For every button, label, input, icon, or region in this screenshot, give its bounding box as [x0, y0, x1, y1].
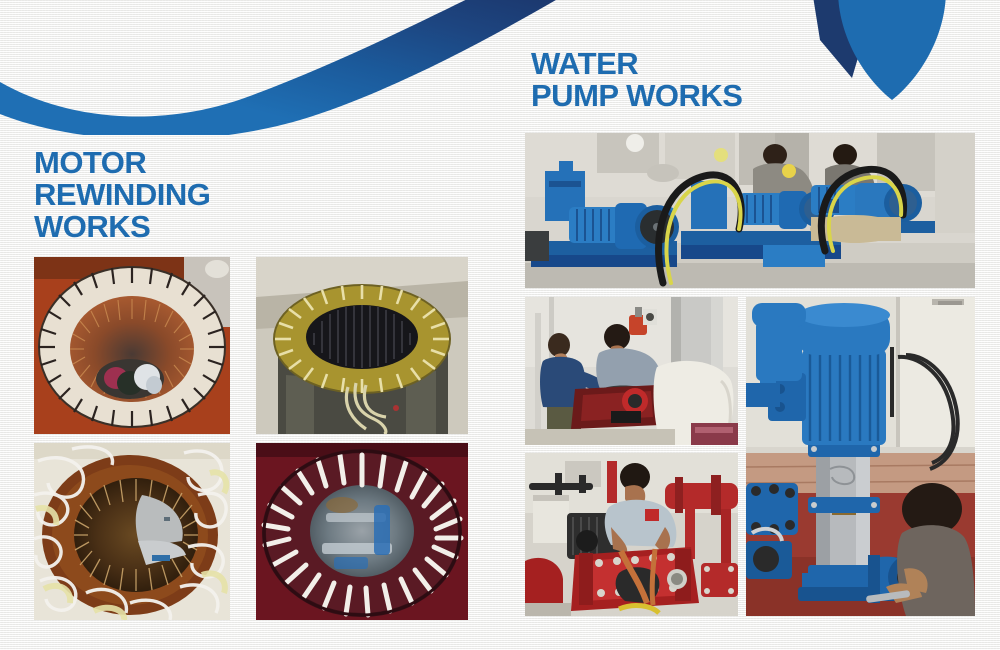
water-pump-title: WATER PUMP WORKS — [531, 48, 951, 112]
photo-vertical-pump — [746, 297, 975, 616]
motor-title-line-2: REWINDING — [34, 179, 334, 211]
photo-stator-gold — [256, 257, 468, 434]
pump-title-line-1: WATER — [531, 48, 951, 80]
page-canvas: MOTOR REWINDING WORKS — [0, 0, 1000, 650]
photo-stator-wedges — [256, 443, 468, 620]
motor-title-line-3: WORKS — [34, 211, 334, 243]
motor-rewinding-title: MOTOR REWINDING WORKS — [34, 147, 334, 243]
pump-title-line-2: PUMP WORKS — [531, 80, 951, 112]
motor-title-line-1: MOTOR — [34, 147, 334, 179]
photo-pump-service — [525, 297, 738, 445]
photo-stator-copper — [34, 443, 230, 620]
photo-stator-white — [34, 257, 230, 434]
photo-fire-pump — [525, 453, 738, 616]
photo-pump-bank — [525, 133, 975, 288]
